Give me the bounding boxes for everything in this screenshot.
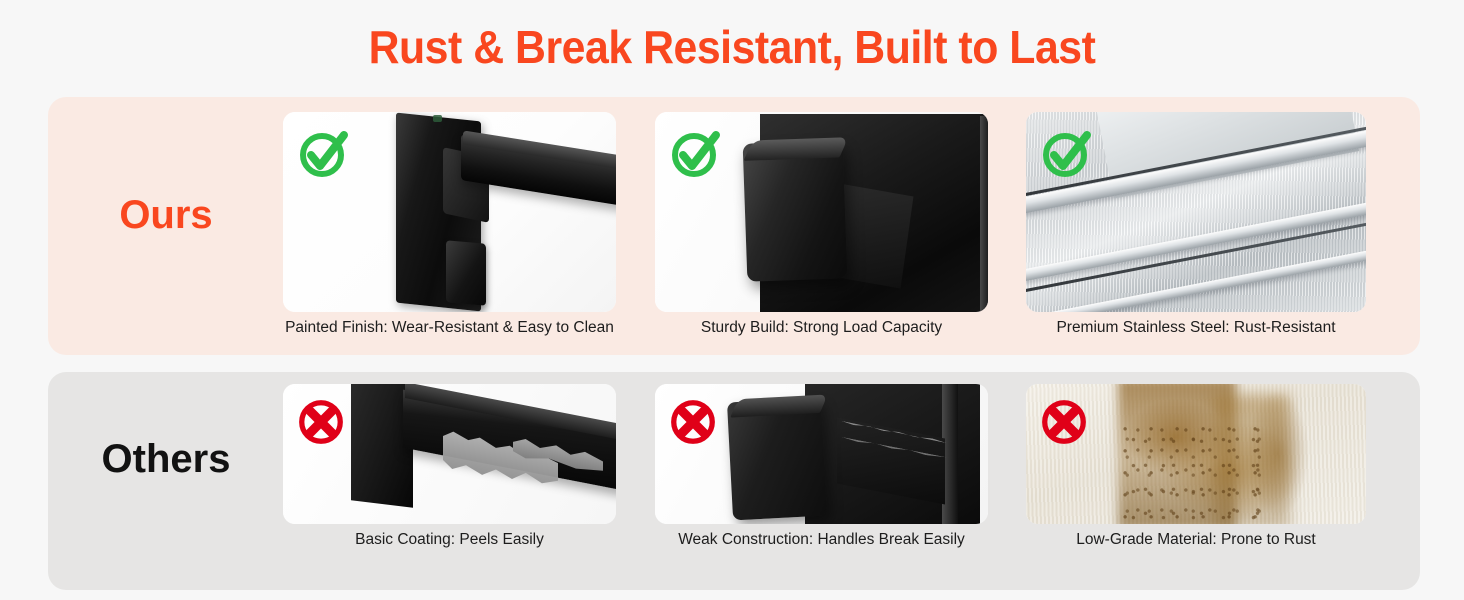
ours-image-card-2 [655,112,988,312]
stainless-steel-sheets-image [1026,112,1366,312]
black-square-towel-bar-image [283,112,616,312]
others-caption-3: Low-Grade Material: Prone to Rust [1014,531,1378,549]
others-image-card-1 [283,384,616,524]
page-title: Rust & Break Resistant, Built to Last [51,24,1413,70]
ours-image-card-3 [1026,112,1366,312]
others-row-label: Others [48,437,284,482]
others-caption-2: Weak Construction: Handles Break Easily [643,531,1000,549]
others-panel: Others Basic Coating: Peels Easily [48,372,1420,590]
ours-image-card-1 [283,112,616,312]
black-square-robe-hook-image [655,112,988,312]
ours-caption-3: Premium Stainless Steel: Rust-Resistant [1014,319,1378,337]
ours-row-label: Ours [48,193,284,238]
ours-panel: Ours Painted Finish: Wear-Resistant & Ea… [48,97,1420,355]
ours-caption-1: Painted Finish: Wear-Resistant & Easy to… [271,319,628,337]
others-caption-1: Basic Coating: Peels Easily [271,531,628,549]
ours-caption-2: Sturdy Build: Strong Load Capacity [643,319,1000,337]
rust-stain-image [1026,384,1366,524]
others-image-card-2 [655,384,988,524]
infographic-root: Rust & Break Resistant, Built to Last Ou… [0,0,1464,600]
peeling-coating-image [283,384,616,524]
cracked-hook-image [655,384,988,524]
others-image-card-3 [1026,384,1366,524]
